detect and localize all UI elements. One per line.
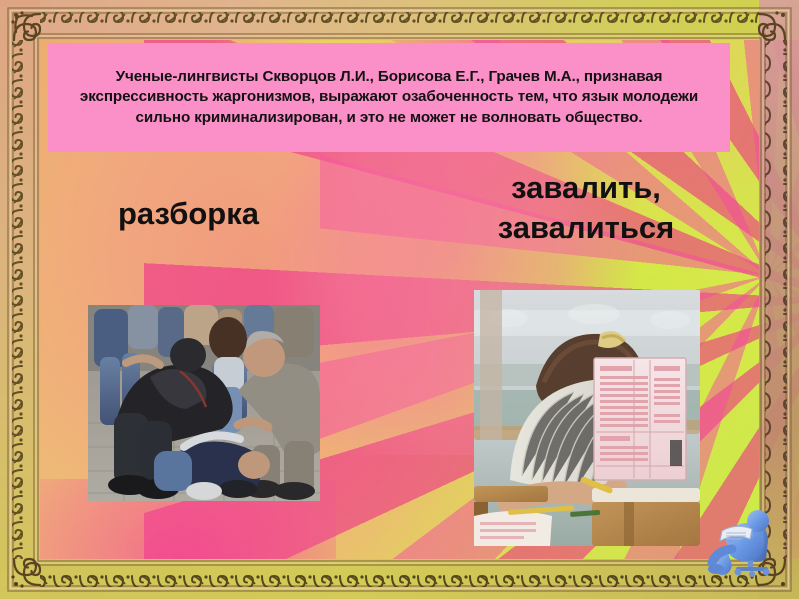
reading-figure-icon xyxy=(704,505,782,577)
caption-text: Ученые-лингвисты Скворцов Л.И., Борисова… xyxy=(62,67,716,128)
reading-figure-artwork xyxy=(704,505,782,577)
photo-brawl-artwork xyxy=(88,305,320,501)
photo-exam xyxy=(474,290,700,546)
photo-exam-artwork xyxy=(474,290,700,546)
slang-word-right: завалить, завалиться xyxy=(455,168,717,249)
presentation-slide: Ученые-лингвисты Скворцов Л.И., Борисова… xyxy=(0,0,799,599)
caption-box: Ученые-лингвисты Скворцов Л.И., Борисова… xyxy=(48,43,730,152)
slang-word-left: разборка xyxy=(118,196,259,233)
photo-brawl xyxy=(88,305,320,501)
